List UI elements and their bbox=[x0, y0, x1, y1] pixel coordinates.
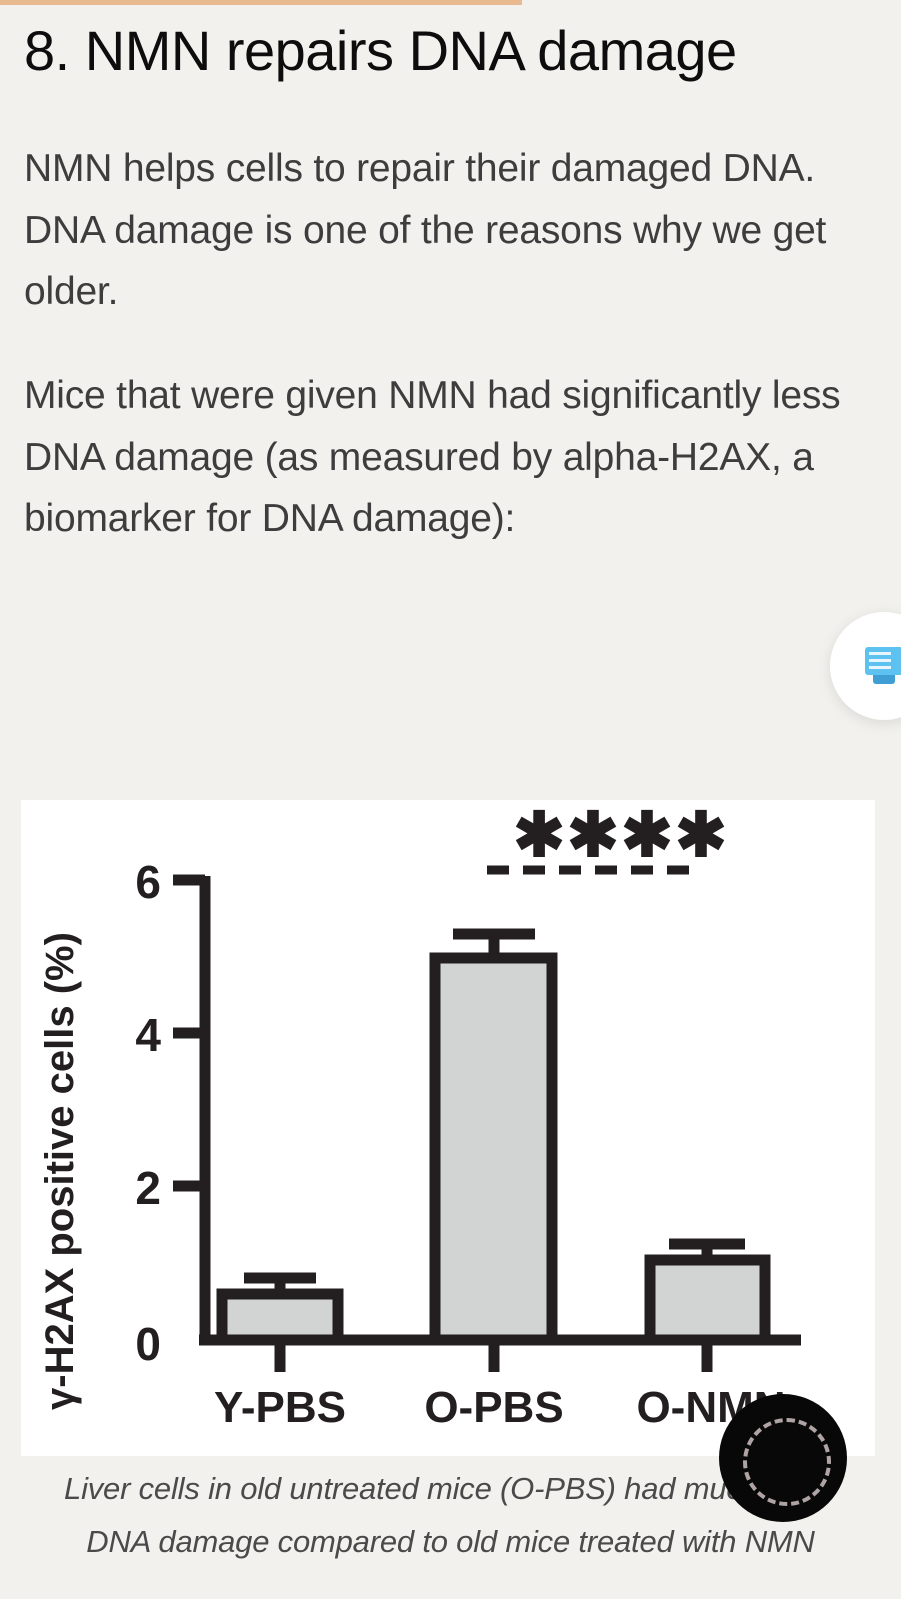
y-tick-label-6: 6 bbox=[135, 856, 161, 908]
y-axis-tick-labels: 6 4 2 0 bbox=[135, 856, 161, 1370]
bar-o-pbs bbox=[435, 958, 552, 1340]
bar-group-o-pbs bbox=[435, 934, 552, 1340]
body-paragraph-2: Mice that were given NMN had significant… bbox=[0, 323, 901, 550]
significance-stars: ✱✱✱✱ bbox=[513, 801, 729, 870]
chat-screen-icon bbox=[861, 643, 901, 689]
bar-group-o-nmn bbox=[650, 1244, 765, 1340]
x-label-y-pbs: Y-PBS bbox=[214, 1383, 346, 1432]
touch-ring-icon bbox=[743, 1418, 831, 1506]
bar-group-y-pbs bbox=[222, 1278, 338, 1340]
figure-chart-card: γ-H2AX positive cells (%) 6 4 2 0 bbox=[21, 800, 875, 1456]
page-title: 8. NMN repairs DNA damage bbox=[0, 5, 901, 82]
y-tick-label-4: 4 bbox=[135, 1009, 161, 1061]
bar-o-nmn bbox=[650, 1260, 765, 1340]
bar-y-pbs bbox=[222, 1294, 338, 1340]
y-axis-title: γ-H2AX positive cells (%) bbox=[38, 932, 82, 1410]
x-label-o-pbs: O-PBS bbox=[424, 1383, 563, 1432]
y-tick-label-2: 2 bbox=[135, 1162, 161, 1214]
figure-caption-line-2: DNA damage compared to old mice treated … bbox=[0, 1515, 901, 1568]
chat-widget-button[interactable] bbox=[830, 612, 901, 720]
article-body: 8. NMN repairs DNA damage NMN helps cell… bbox=[0, 5, 901, 550]
bar-chart: γ-H2AX positive cells (%) 6 4 2 0 bbox=[21, 800, 875, 1456]
y-tick-label-0: 0 bbox=[135, 1318, 161, 1370]
body-paragraph-1: NMN helps cells to repair their damaged … bbox=[0, 82, 901, 323]
touch-indicator[interactable] bbox=[719, 1394, 847, 1522]
x-axis-category-labels: Y-PBS O-PBS O-NMN bbox=[214, 1383, 786, 1432]
